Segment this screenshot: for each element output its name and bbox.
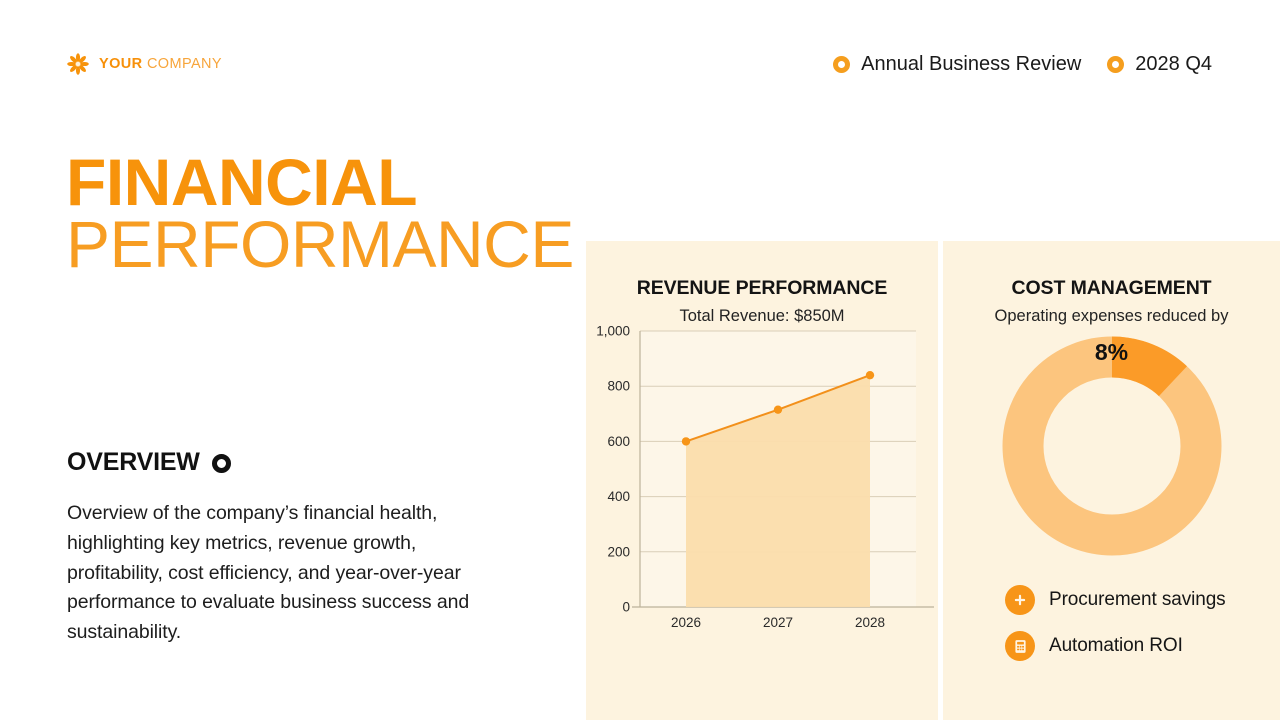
cost-panel-title: COST MANAGEMENT — [943, 277, 1280, 300]
calculator-icon — [1005, 631, 1035, 661]
page-title-line-1: FINANCIAL — [66, 151, 574, 213]
brand-name-light: COMPANY — [147, 56, 222, 72]
revenue-line-chart: 02004006008001,000202620272028 — [586, 315, 938, 645]
overview-heading-row: OVERVIEW — [67, 448, 487, 477]
svg-text:2026: 2026 — [671, 615, 701, 630]
svg-text:0: 0 — [622, 600, 630, 615]
svg-text:600: 600 — [607, 434, 630, 449]
ring-icon-dark — [212, 454, 231, 473]
svg-text:200: 200 — [607, 544, 630, 559]
ring-icon — [833, 56, 850, 73]
donut-center-value: 8% — [943, 339, 1280, 366]
header-meta-item-period[interactable]: 2028 Q4 — [1107, 53, 1212, 76]
legend-label-procurement: Procurement savings — [1049, 589, 1226, 611]
ring-icon — [1107, 56, 1124, 73]
header-meta-label-period: 2028 Q4 — [1135, 53, 1212, 76]
legend-label-automation: Automation ROI — [1049, 635, 1183, 657]
cost-donut-chart — [943, 335, 1280, 557]
legend-item-procurement[interactable]: Procurement savings — [1005, 585, 1226, 615]
revenue-performance-panel: REVENUE PERFORMANCE Total Revenue: $850M… — [586, 241, 938, 720]
flower-asterisk-icon — [66, 52, 90, 76]
overview-section: OVERVIEW Overview of the company’s finan… — [67, 448, 487, 648]
svg-text:2028: 2028 — [855, 615, 885, 630]
svg-text:400: 400 — [607, 489, 630, 504]
header-meta-item-review[interactable]: Annual Business Review — [833, 53, 1081, 76]
revenue-panel-title: REVENUE PERFORMANCE — [586, 277, 938, 300]
brand-name: YOUR COMPANY — [99, 56, 222, 72]
svg-text:800: 800 — [607, 379, 630, 394]
page-title: FINANCIAL PERFORMANCE — [66, 151, 574, 275]
brand-logo: YOUR COMPANY — [66, 52, 222, 76]
brand-name-bold: YOUR — [99, 56, 143, 72]
header-meta: Annual Business Review 2028 Q4 — [833, 53, 1212, 76]
cost-management-panel: COST MANAGEMENT Operating expenses reduc… — [943, 241, 1280, 720]
page-title-line-2: PERFORMANCE — [66, 213, 574, 275]
overview-body-text: Overview of the company’s financial heal… — [67, 499, 487, 648]
legend-item-automation[interactable]: Automation ROI — [1005, 631, 1226, 661]
cost-legend: Procurement savings Automation ROI — [1005, 585, 1226, 661]
overview-heading: OVERVIEW — [67, 448, 200, 477]
page-header: YOUR COMPANY Annual Business Review 2028… — [0, 0, 1280, 120]
cost-panel-subtitle: Operating expenses reduced by — [943, 307, 1280, 326]
header-meta-label-review: Annual Business Review — [861, 53, 1081, 76]
svg-text:1,000: 1,000 — [596, 324, 630, 339]
plus-circle-icon — [1005, 585, 1035, 615]
svg-text:2027: 2027 — [763, 615, 793, 630]
